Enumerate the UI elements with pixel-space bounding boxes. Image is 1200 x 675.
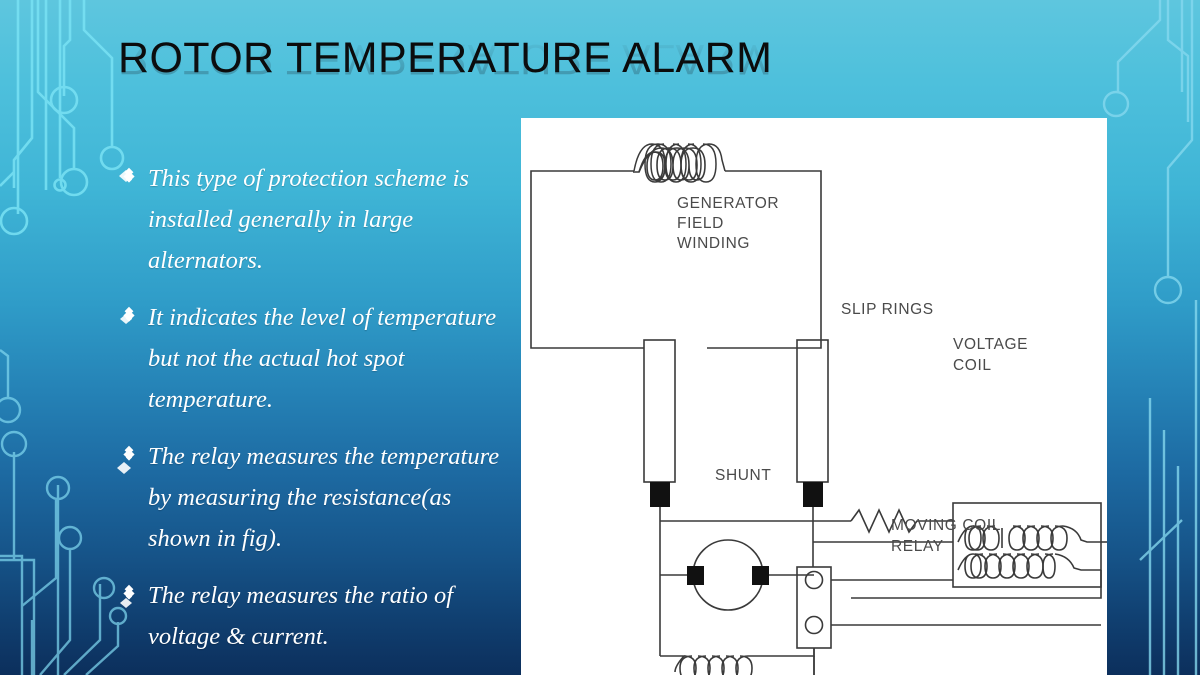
shunt-terminal-lower <box>806 617 823 634</box>
diamond-bullet-icon <box>120 167 138 185</box>
brush-contact-right <box>803 482 823 507</box>
slide-title-block: ROTOR TEMPERATURE ALARM ROTOR TEMPERATUR… <box>118 34 878 126</box>
list-item-label: The relay measures the temperature by me… <box>148 443 499 552</box>
label-voltage-coil-line2: COIL <box>953 357 992 374</box>
bottom-current-coil <box>660 648 814 675</box>
label-generator-field-winding-line3: WINDING <box>677 235 750 252</box>
moving-coil <box>958 554 1101 578</box>
left-field-wire <box>531 171 644 348</box>
list-item: The relay measures the temperature by me… <box>120 436 510 559</box>
label-moving-coil-relay-line1: MOVING COIL <box>891 517 1001 534</box>
diamond-bullet-icon <box>120 445 138 463</box>
rotor-temperature-alarm-circuit: GENERATOR FIELD WINDING SLIP RINGS VOLTA… <box>521 118 1107 675</box>
list-item: This type of protection scheme is instal… <box>120 158 510 281</box>
label-moving-coil-relay-line2: RELAY <box>891 538 944 555</box>
page-title-reflection: ROTOR TEMPERATURE ALARM <box>118 35 772 83</box>
list-item-label: It indicates the level of temperature bu… <box>148 304 496 413</box>
label-generator-field-winding-line2: FIELD <box>677 215 724 232</box>
circuit-diagram-panel: GENERATOR FIELD WINDING SLIP RINGS VOLTA… <box>521 118 1107 675</box>
diamond-bullet-icon <box>120 306 138 324</box>
list-item: It indicates the level of temperature bu… <box>120 297 510 420</box>
label-generator-field-winding-line1: GENERATOR <box>677 195 779 212</box>
shunt-terminal-upper <box>806 572 823 589</box>
label-slip-rings: SLIP RINGS <box>841 301 934 318</box>
list-item-label: This type of protection scheme is instal… <box>148 165 469 274</box>
slip-ring-left <box>644 340 675 482</box>
rotor-terminal-left <box>687 566 704 585</box>
rotor-terminal-right <box>752 566 769 585</box>
list-item-label: The relay measures the ratio of voltage … <box>148 582 453 650</box>
brush-contact-left <box>650 482 670 507</box>
shunt-block <box>797 567 1101 675</box>
label-voltage-coil-line1: VOLTAGE <box>953 336 1028 353</box>
list-item: The relay measures the ratio of voltage … <box>120 575 510 657</box>
presentation-slide: ROTOR TEMPERATURE ALARM ROTOR TEMPERATUR… <box>0 0 1200 675</box>
label-shunt: SHUNT <box>715 467 771 484</box>
diamond-bullet-icon <box>120 584 138 602</box>
relay-return-lower <box>851 570 1101 598</box>
slip-ring-right <box>797 340 828 482</box>
bullet-list: This type of protection scheme is instal… <box>120 158 510 673</box>
